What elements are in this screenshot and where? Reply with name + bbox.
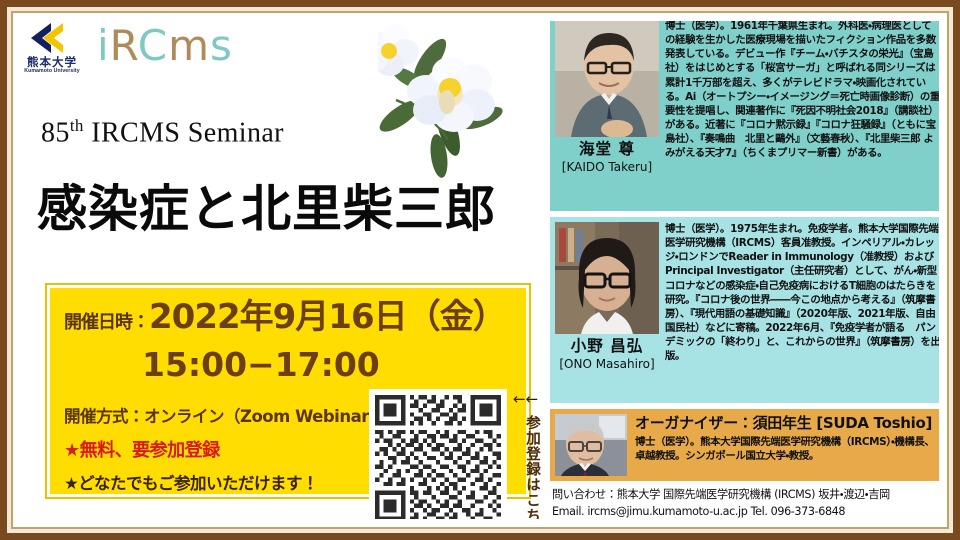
event-time-value: 15:00−17:00: [64, 348, 512, 381]
qr-arrow-icon: ←←: [513, 393, 537, 407]
organizer-title: オーガナイザー：須田年生 [SUDA Toshio]: [635, 414, 941, 432]
speaker-name-jp-ono: 小野 昌弘: [555, 338, 659, 356]
kumamoto-university-name-en: Kumamoto University: [21, 69, 83, 74]
speaker-name-kaido: 海堂 尊 [KAIDO Takeru]: [555, 141, 659, 174]
contact-line-2: Email. ircms@jimu.kumamoto-u.ac.jp Tel. …: [552, 504, 946, 521]
kumamoto-university-name-jp: 熊本大学: [21, 56, 83, 68]
speaker-bio-ono: 博士（医学）。1975年生まれ。免疫学者。熊本大学国際先端医学研究機構（IRCM…: [659, 222, 941, 398]
seminar-series: IRCMS Seminar: [91, 117, 284, 148]
speaker-name-ono: 小野 昌弘 [ONO Masahiro]: [555, 338, 659, 371]
left-column: 熊本大学 Kumamoto University iRCms 85th IRCM…: [21, 21, 545, 519]
kumamoto-chevron-icon: [21, 21, 83, 55]
organizer-card: オーガナイザー：須田年生 [SUDA Toshio] 博士（医学）。熊本大学国際…: [550, 409, 946, 481]
speaker-name-en-kaido: [KAIDO Takeru]: [555, 160, 659, 174]
registration-qr-code[interactable]: [369, 389, 507, 527]
kumamoto-university-logo: 熊本大学 Kumamoto University: [21, 21, 83, 74]
portrait-photo-ono-icon: [555, 222, 659, 334]
organizer-photo: [555, 414, 627, 476]
seminar-number: 85: [41, 117, 70, 148]
event-date-value: 2022年9月16日（金）: [149, 300, 506, 334]
speaker-photo-ono: [555, 222, 659, 334]
seminar-poster: 熊本大学 Kumamoto University iRCms 85th IRCM…: [0, 0, 960, 540]
qr-code-caption: 参加登録はこちら: [513, 389, 539, 540]
speaker-card-kaido: 海堂 尊 [KAIDO Takeru] 博士（医学）。1961年千葉県生まれ。外…: [550, 14, 946, 211]
speaker-bio-kaido: 博士（医学）。1961年千葉県生まれ。外科医・病理医としての経験を生かした医療現…: [659, 19, 941, 206]
speaker-photo-kaido: [555, 19, 659, 137]
speaker-name-jp-kaido: 海堂 尊: [555, 141, 659, 159]
event-date-row: 開催日時： 2022年9月16日（金）: [64, 300, 512, 334]
contact-line-1: 問い合わせ：熊本大学 国際先端医学研究機構 (IRCMS) 坂井・渡辺・吉岡: [552, 487, 946, 504]
event-date-label: 開催日時：: [64, 308, 149, 334]
seminar-ordinal: th: [70, 116, 84, 135]
speaker-card-ono: 小野 昌弘 [ONO Masahiro] 博士（医学）。1975年生まれ。免疫学…: [550, 217, 946, 403]
page-title: 感染症と北里柴三郎: [37, 169, 496, 241]
seminar-number-heading: 85th IRCMS Seminar: [41, 116, 284, 149]
portrait-photo-kaido-icon: [555, 19, 659, 137]
portrait-photo-suda-icon: [555, 414, 627, 476]
qr-code-icon[interactable]: [375, 395, 501, 521]
speaker-name-en-ono: [ONO Masahiro]: [555, 357, 659, 371]
ircms-logo: iRCms: [97, 25, 233, 67]
logo-row: 熊本大学 Kumamoto University iRCms: [21, 21, 233, 74]
right-column: 海堂 尊 [KAIDO Takeru] 博士（医学）。1961年千葉県生まれ。外…: [550, 14, 946, 521]
organizer-body: オーガナイザー：須田年生 [SUDA Toshio] 博士（医学）。熊本大学国際…: [627, 414, 941, 476]
organizer-description: 博士（医学）。熊本大学国際先端医学研究機構（IRCMS）・機構長、卓越教授。シン…: [635, 435, 941, 464]
contact-info: 問い合わせ：熊本大学 国際先端医学研究機構 (IRCMS) 坂井・渡辺・吉岡 E…: [550, 487, 946, 521]
